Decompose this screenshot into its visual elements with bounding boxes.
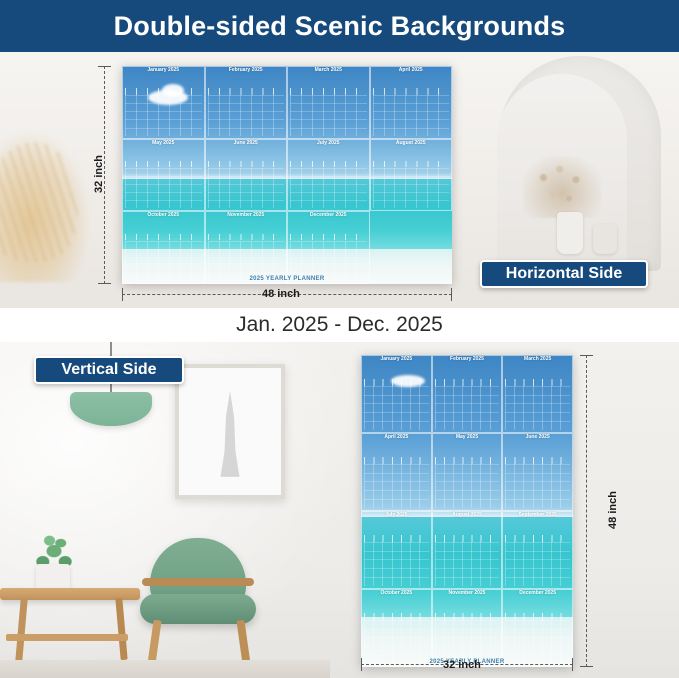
dimension-tick bbox=[361, 658, 362, 671]
month-cell: May 2025 bbox=[432, 433, 503, 511]
month-title: June 2025 bbox=[503, 435, 572, 440]
month-grid-vertical: January 2025February 2025March 2025April… bbox=[361, 355, 573, 667]
month-title: March 2025 bbox=[503, 357, 572, 362]
weekday-header-row bbox=[505, 379, 570, 386]
month-cell: August 2025 bbox=[432, 511, 503, 589]
date-range-caption: Jan. 2025 - Dec. 2025 bbox=[236, 313, 443, 337]
width-dimension-label: 48 inch bbox=[262, 288, 300, 300]
day-grid bbox=[290, 95, 367, 135]
horizontal-scene: January 2025February 2025March 2025April… bbox=[0, 52, 679, 308]
dimension-tick bbox=[451, 288, 452, 301]
month-cell: January 2025 bbox=[122, 66, 205, 139]
wall-art-frame bbox=[175, 364, 285, 499]
month-cell: May 2025 bbox=[122, 139, 205, 212]
month-grid-horizontal: January 2025February 2025March 2025April… bbox=[122, 66, 452, 284]
month-cell: January 2025 bbox=[361, 355, 432, 433]
day-grid bbox=[435, 464, 500, 508]
poster-footer-horizontal: 2025 YEARLY PLANNER bbox=[122, 273, 452, 284]
weekday-header-row bbox=[435, 457, 500, 464]
month-title: July 2025 bbox=[288, 141, 369, 146]
vertical-calendar-poster: January 2025February 2025March 2025April… bbox=[361, 355, 573, 667]
day-grid bbox=[373, 95, 450, 135]
month-title: October 2025 bbox=[362, 591, 431, 596]
day-grid bbox=[208, 168, 285, 208]
weekday-header-row bbox=[364, 535, 429, 542]
month-cell: March 2025 bbox=[502, 355, 573, 433]
month-cell: March 2025 bbox=[287, 66, 370, 139]
month-title: June 2025 bbox=[206, 141, 287, 146]
month-title: March 2025 bbox=[288, 68, 369, 73]
weekday-header-row bbox=[290, 234, 367, 240]
day-grid bbox=[364, 464, 429, 508]
horizontal-calendar-poster: January 2025February 2025March 2025April… bbox=[122, 66, 452, 284]
armchair-arm bbox=[142, 578, 254, 586]
day-grid bbox=[505, 464, 570, 508]
weekday-header-row bbox=[290, 161, 367, 167]
day-grid bbox=[364, 386, 429, 430]
weekday-header-row bbox=[125, 234, 202, 240]
day-grid bbox=[435, 542, 500, 586]
day-grid bbox=[373, 168, 450, 208]
width-dimension-label: 32 inch bbox=[443, 659, 481, 671]
month-title: October 2025 bbox=[123, 213, 204, 218]
weekday-header-row bbox=[373, 161, 450, 167]
floor bbox=[0, 660, 330, 678]
weekday-header-row bbox=[208, 88, 285, 94]
height-dimension-line bbox=[586, 355, 587, 667]
header-banner: Double-sided Scenic Backgrounds bbox=[0, 0, 679, 52]
product-image: Double-sided Scenic Backgrounds January … bbox=[0, 0, 679, 678]
weekday-header-row bbox=[435, 379, 500, 386]
weekday-header-row bbox=[505, 457, 570, 464]
month-title: August 2025 bbox=[433, 513, 502, 518]
weekday-header-row bbox=[125, 161, 202, 167]
month-cell: July 2025 bbox=[361, 511, 432, 589]
month-cell: February 2025 bbox=[432, 355, 503, 433]
day-grid bbox=[505, 542, 570, 586]
weekday-header-row bbox=[373, 88, 450, 94]
badge-horizontal-label: Horizontal Side bbox=[506, 265, 622, 283]
dimension-tick bbox=[98, 283, 111, 284]
month-title: February 2025 bbox=[206, 68, 287, 73]
month-cell: February 2025 bbox=[205, 66, 288, 139]
month-title: January 2025 bbox=[123, 68, 204, 73]
day-grid bbox=[208, 95, 285, 135]
height-dimension-label: 48 inch bbox=[607, 491, 619, 529]
month-title: November 2025 bbox=[206, 213, 287, 218]
weekday-header-row bbox=[435, 613, 500, 620]
day-grid bbox=[125, 168, 202, 208]
vase-large bbox=[557, 212, 583, 254]
weekday-header-row bbox=[505, 613, 570, 620]
month-cell: June 2025 bbox=[502, 433, 573, 511]
month-title: May 2025 bbox=[123, 141, 204, 146]
day-grid bbox=[435, 386, 500, 430]
dried-flowers-decor bbox=[523, 156, 601, 218]
month-title: August 2025 bbox=[371, 141, 452, 146]
weekday-header-row bbox=[364, 613, 429, 620]
month-title: May 2025 bbox=[433, 435, 502, 440]
month-cell: June 2025 bbox=[205, 139, 288, 212]
month-title: November 2025 bbox=[433, 591, 502, 596]
day-grid bbox=[125, 95, 202, 135]
month-title: January 2025 bbox=[362, 357, 431, 362]
weekday-header-row bbox=[208, 234, 285, 240]
month-cell: September 2025 bbox=[502, 511, 573, 589]
weekday-header-row bbox=[505, 535, 570, 542]
month-title: April 2025 bbox=[362, 435, 431, 440]
weekday-header-row bbox=[435, 535, 500, 542]
day-grid bbox=[290, 168, 367, 208]
height-dimension-label: 32 inch bbox=[93, 155, 105, 193]
month-cell: April 2025 bbox=[361, 433, 432, 511]
day-grid bbox=[505, 386, 570, 430]
month-cell: August 2025 bbox=[370, 139, 453, 212]
month-title: December 2025 bbox=[288, 213, 369, 218]
month-cell: April 2025 bbox=[370, 66, 453, 139]
month-cell: July 2025 bbox=[287, 139, 370, 212]
month-title: April 2025 bbox=[371, 68, 452, 73]
caption-band: Jan. 2025 - Dec. 2025 bbox=[0, 308, 679, 342]
month-title: September 2025 bbox=[503, 513, 572, 518]
weekday-header-row bbox=[290, 88, 367, 94]
dimension-tick bbox=[580, 355, 593, 356]
day-grid bbox=[364, 542, 429, 586]
vertical-scene: Vertical Side January 2025February 2025M… bbox=[0, 342, 679, 678]
weekday-header-row bbox=[364, 379, 429, 386]
month-title: February 2025 bbox=[433, 357, 502, 362]
vase-small bbox=[593, 224, 617, 254]
badge-vertical-side: Vertical Side bbox=[34, 356, 184, 384]
badge-horizontal-side: Horizontal Side bbox=[480, 260, 648, 288]
dimension-tick bbox=[98, 66, 111, 67]
dimension-tick bbox=[580, 666, 593, 667]
month-title: December 2025 bbox=[503, 591, 572, 596]
dimension-tick bbox=[572, 658, 573, 671]
wall-art-image bbox=[213, 391, 247, 477]
month-title: July 2025 bbox=[362, 513, 431, 518]
weekday-header-row bbox=[208, 161, 285, 167]
page-title: Double-sided Scenic Backgrounds bbox=[114, 11, 566, 42]
badge-vertical-label: Vertical Side bbox=[61, 361, 156, 379]
dimension-tick bbox=[122, 288, 123, 301]
weekday-header-row bbox=[125, 88, 202, 94]
side-table-shelf bbox=[6, 634, 128, 641]
weekday-header-row bbox=[364, 457, 429, 464]
pampas-grass-decor bbox=[0, 132, 90, 282]
